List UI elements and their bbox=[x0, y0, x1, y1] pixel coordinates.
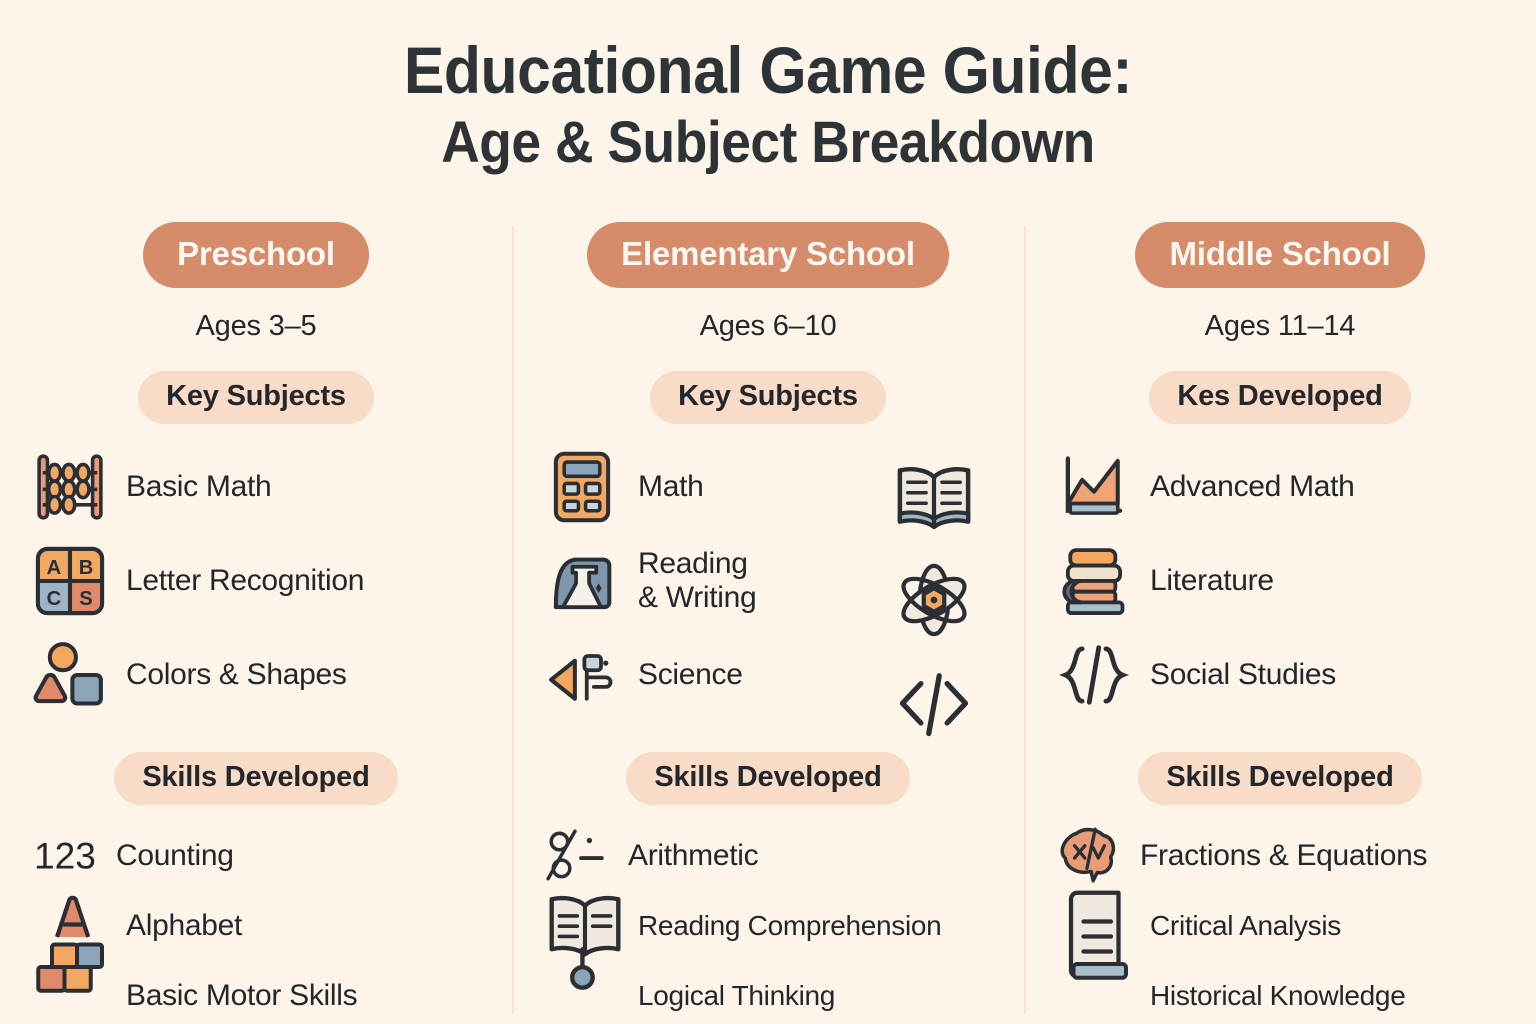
stage-header-elementary[interactable]: Elementary School bbox=[587, 222, 949, 288]
list-item-label: Arithmetic bbox=[628, 839, 758, 873]
list-item-label: Historical Knowledge bbox=[1150, 980, 1405, 1011]
list-item-label: Basic Math bbox=[126, 470, 271, 504]
elementary-header-row: Elementary School bbox=[526, 222, 1010, 288]
stage-header-preschool[interactable]: Preschool bbox=[143, 222, 369, 288]
list-item[interactable]: Reading Comprehension bbox=[638, 891, 1010, 961]
middle-header-row: Middle School bbox=[1038, 222, 1522, 288]
list-item-label: Literature bbox=[1150, 564, 1274, 598]
list-item[interactable]: Social Studies bbox=[1038, 628, 1522, 722]
section-label-skills-elementary[interactable]: Skills Developed bbox=[626, 752, 909, 805]
elementary-subject-list: Math Reading & Writing bbox=[526, 440, 1010, 722]
microscope-icon bbox=[544, 637, 620, 713]
list-item-label: Basic Motor Skills bbox=[126, 979, 357, 1013]
middle-skill-list: Fractions & Equations Critical Analysis bbox=[1038, 821, 1522, 1024]
list-item-label: Counting bbox=[116, 839, 234, 873]
code-brackets-icon bbox=[892, 660, 976, 744]
preschool-skill-list: 123 Counting Alphabet bbox=[14, 821, 498, 1024]
list-item-label: Letter Recognition bbox=[126, 564, 364, 598]
elementary-subjects-pill-row: Key Subjects bbox=[526, 371, 1010, 424]
page-title: Educational Game Guide: Age & Subject Br… bbox=[0, 0, 1536, 173]
svg-text:B: B bbox=[79, 557, 94, 579]
list-item-label: Critical Analysis bbox=[1150, 910, 1341, 941]
open-book-icon bbox=[892, 456, 976, 540]
book-thermometer-icon bbox=[544, 885, 626, 993]
list-item[interactable]: Alphabet bbox=[126, 891, 498, 961]
svg-text:A: A bbox=[47, 557, 62, 579]
elementary-skills-pill-row: Skills Developed bbox=[526, 752, 1010, 805]
columns-container: Preschool Ages 3–5 Key Subjects bbox=[0, 222, 1536, 1022]
shapes-icon bbox=[32, 637, 108, 713]
elementary-skill-list: Arithmetic Reading Comprehension bbox=[526, 821, 1010, 1024]
column-middle-school: Middle School Ages 11–14 Kes Developed A… bbox=[1024, 222, 1536, 1022]
percent-divide-icon bbox=[544, 823, 610, 889]
list-item[interactable]: Fractions & Equations bbox=[1038, 821, 1522, 891]
middle-document-rows: Critical Analysis Historical Knowledge bbox=[1150, 891, 1522, 1024]
section-label-skills-middle-school[interactable]: Skills Developed bbox=[1138, 752, 1421, 805]
title-line-2: Age & Subject Breakdown bbox=[61, 112, 1474, 173]
svg-text:S: S bbox=[79, 588, 92, 610]
list-item[interactable]: A B C S Letter Recognition bbox=[14, 534, 498, 628]
list-item-label: Reading Comprehension bbox=[638, 910, 941, 941]
book-stack-icon bbox=[1056, 543, 1132, 619]
elementary-decorative-icons bbox=[892, 456, 976, 744]
document-icon bbox=[1056, 885, 1136, 993]
age-range-preschool: Ages 3–5 bbox=[14, 310, 498, 343]
stage-header-middle-school[interactable]: Middle School bbox=[1135, 222, 1424, 288]
section-label-subjects-middle-school[interactable]: Kes Developed bbox=[1149, 371, 1410, 424]
list-item[interactable]: Colors & Shapes bbox=[14, 628, 498, 722]
numbers-123-icon: 123 bbox=[32, 823, 98, 889]
list-item-label: Science bbox=[638, 658, 743, 692]
preschool-header-row: Preschool bbox=[14, 222, 498, 288]
brain-math-icon bbox=[1056, 823, 1122, 889]
list-item[interactable]: Advanced Math bbox=[1038, 440, 1522, 534]
section-label-key-subjects-elementary[interactable]: Key Subjects bbox=[650, 371, 886, 424]
middle-document-group: Critical Analysis Historical Knowledge bbox=[1038, 891, 1522, 1024]
list-item-label: Math bbox=[638, 470, 704, 504]
infographic-page: Educational Game Guide: Age & Subject Br… bbox=[0, 0, 1536, 1024]
abcs-blocks-icon: A B C S bbox=[32, 543, 108, 619]
atom-icon bbox=[892, 558, 976, 642]
middle-skills-pill-row: Skills Developed bbox=[1038, 752, 1522, 805]
list-item[interactable]: Critical Analysis bbox=[1150, 891, 1522, 961]
middle-subject-list: Advanced Math Literature bbox=[1038, 440, 1522, 722]
column-preschool: Preschool Ages 3–5 Key Subjects bbox=[0, 222, 512, 1022]
preschool-subject-list: Basic Math A B C S Lett bbox=[14, 440, 498, 722]
preschool-alphabet-group: Alphabet Basic Motor Skills bbox=[14, 891, 498, 1024]
list-item[interactable]: Logical Thinking bbox=[638, 961, 1010, 1024]
list-item-label: Colors & Shapes bbox=[126, 658, 347, 692]
list-item-label: Fractions & Equations bbox=[1140, 839, 1427, 873]
list-item[interactable]: 123 Counting bbox=[14, 821, 498, 891]
svg-text:123: 123 bbox=[34, 834, 96, 876]
section-label-skills-preschool[interactable]: Skills Developed bbox=[114, 752, 397, 805]
title-line-1: Educational Game Guide: bbox=[61, 36, 1474, 106]
letter-a-blocks-icon bbox=[32, 887, 112, 997]
preschool-skills-pill-row: Skills Developed bbox=[14, 752, 498, 805]
preschool-alphabet-rows: Alphabet Basic Motor Skills bbox=[126, 891, 498, 1024]
column-elementary: Elementary School Ages 6–10 Key Subjects bbox=[512, 222, 1024, 1022]
list-item[interactable]: Basic Motor Skills bbox=[126, 961, 498, 1024]
list-item[interactable]: Historical Knowledge bbox=[1150, 961, 1522, 1024]
area-chart-icon bbox=[1056, 449, 1132, 525]
preschool-subjects-pill-row: Key Subjects bbox=[14, 371, 498, 424]
flask-icon bbox=[544, 543, 620, 619]
svg-text:C: C bbox=[47, 588, 62, 610]
abacus-icon bbox=[32, 449, 108, 525]
section-label-key-subjects-preschool[interactable]: Key Subjects bbox=[138, 371, 374, 424]
calculator-icon bbox=[544, 449, 620, 525]
list-item[interactable]: Basic Math bbox=[14, 440, 498, 534]
list-item-label: Alphabet bbox=[126, 909, 242, 943]
elementary-reading-group: Reading Comprehension Logical Thinking bbox=[526, 891, 1010, 1024]
list-item-label: Advanced Math bbox=[1150, 470, 1355, 504]
age-range-middle-school: Ages 11–14 bbox=[1038, 310, 1522, 343]
list-item[interactable]: Arithmetic bbox=[526, 821, 1010, 891]
age-range-elementary: Ages 6–10 bbox=[526, 310, 1010, 343]
elementary-reading-rows: Reading Comprehension Logical Thinking bbox=[638, 891, 1010, 1024]
middle-subjects-pill-row: Kes Developed bbox=[1038, 371, 1522, 424]
list-item[interactable]: Literature bbox=[1038, 534, 1522, 628]
list-item-label: Logical Thinking bbox=[638, 980, 835, 1011]
curly-braces-icon bbox=[1056, 637, 1132, 713]
list-item-label: Social Studies bbox=[1150, 658, 1336, 692]
list-item-label: Reading & Writing bbox=[638, 547, 756, 614]
